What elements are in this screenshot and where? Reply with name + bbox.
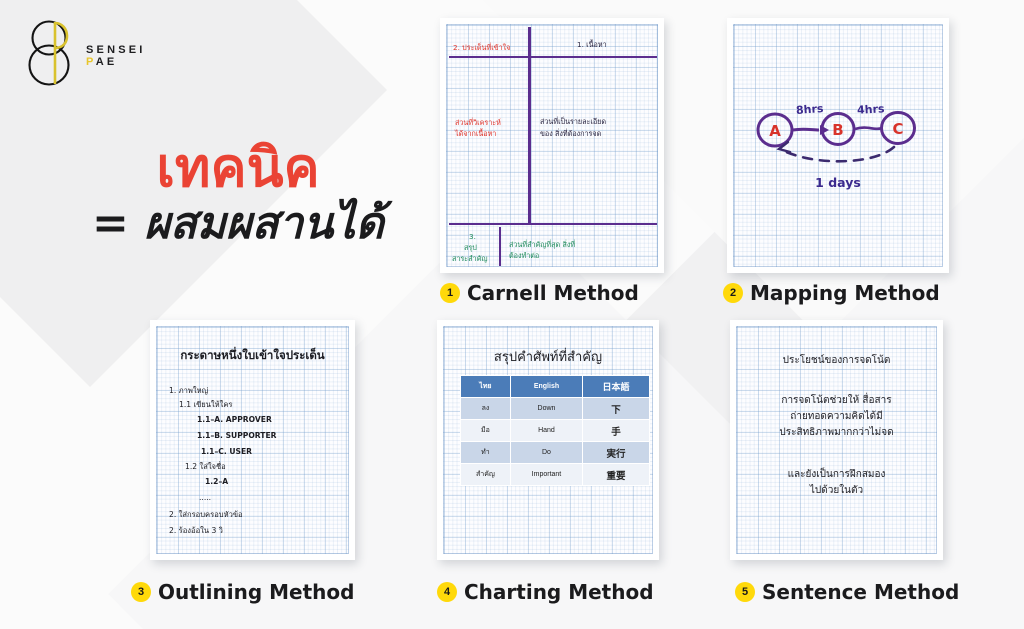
cornell-left-body-line-2: ได้จากเนื้อหา (455, 129, 496, 139)
sentence-para1-line3: ประสิทธิภาพมากกว่าไม่จด (747, 425, 926, 441)
infographic-canvas: SENSEI PAE เทคนิค = ผสมผสานได้ 2. ประเด็… (0, 0, 1024, 629)
graph-paper-5: ประโยชน์ของการจดโน้ต การจดโน้ตช่วยให้ สื… (736, 326, 937, 554)
cornell-rule-vertical (528, 27, 531, 225)
caption-mapping-method: 2 Mapping Method (723, 281, 940, 305)
headline-line-1: เทคนิค (58, 140, 418, 197)
headline-line-2: = ผสมผสานได้ (58, 199, 418, 250)
sensei-pae-logo-icon (24, 18, 86, 86)
graph-paper-4: สรุปคำศัพท์ที่สำคัญ ไทย English 日本語 ลง D… (443, 326, 653, 554)
cell-thai: ลง (461, 398, 511, 420)
caption-label-5: Sentence Method (762, 580, 959, 604)
card-outlining-method[interactable]: กระดาษหนึ่งใบเข้าใจประเด็น 1. ภาพใหญ่ 1.… (150, 320, 355, 560)
cell-japanese: 実行 (583, 442, 650, 464)
table-row: มือ Hand 手 (461, 420, 650, 442)
sentence-para1-line1: การจดโน้ตช่วยให้ สื่อสาร (747, 393, 926, 409)
cornell-rule-bottom (449, 223, 657, 225)
brand-logo: SENSEI PAE (24, 18, 204, 88)
sentence-para2-line1: และยังเป็นการฝึกสมอง (747, 467, 926, 483)
cell-english: Important (510, 464, 582, 486)
graph-paper-2: A B C 8hrs 4hrs 1 days (733, 24, 943, 267)
sentence-para2-line2: ไปด้วยในตัว (747, 483, 926, 499)
cell-english: Down (510, 398, 582, 420)
brand-wordmark: SENSEI PAE (86, 45, 146, 69)
cell-japanese: 重要 (583, 464, 650, 486)
graph-paper-3: กระดาษหนึ่งใบเข้าใจประเด็น 1. ภาพใหญ่ 1.… (156, 326, 349, 554)
cornell-bottom-right-line-1: ส่วนที่สำคัญที่สุด สิ่งที่ (509, 240, 575, 250)
cornell-top-right-label: 1. เนื้อหา (577, 40, 607, 50)
badge-number-3: 3 (131, 582, 151, 602)
column-header-english: English (510, 376, 582, 398)
mapping-diagram: A B C 8hrs 4hrs 1 days (734, 25, 943, 267)
cornell-right-body-line-1: ส่วนที่เป็นรายละเอียด (540, 117, 606, 127)
outline-item-8: 2. ใส่กรอบครอบหัวข้อ (169, 509, 243, 521)
outline-item-3: 1.1–B. SUPPORTER (197, 431, 277, 440)
cornell-right-body-line-2: ของ สิ่งที่ต้องการจด (540, 129, 601, 139)
badge-number-1: 1 (440, 283, 460, 303)
svg-text:C: C (892, 120, 903, 138)
cornell-bottom-left-line-2: สรุป (464, 243, 477, 253)
graph-paper-1: 2. ประเด็นที่เข้าใจ 1. เนื้อหา ส่วนที่วิ… (446, 24, 658, 267)
vocabulary-table: ไทย English 日本語 ลง Down 下 มือ (460, 375, 650, 486)
svg-text:4hrs: 4hrs (857, 102, 886, 116)
caption-label-1: Carnell Method (467, 281, 639, 305)
page-title: เทคนิค = ผสมผสานได้ (58, 140, 418, 249)
caption-label-4: Charting Method (464, 580, 654, 604)
caption-outlining-method: 3 Outlining Method (131, 580, 354, 604)
outline-item-7: ..... (199, 493, 211, 502)
card-charting-method[interactable]: สรุปคำศัพท์ที่สำคัญ ไทย English 日本語 ลง D… (437, 320, 659, 560)
outline-item-0: 1. ภาพใหญ่ (169, 385, 208, 397)
badge-number-2: 2 (723, 283, 743, 303)
cornell-rule-bottom-vertical (499, 227, 501, 266)
cornell-bottom-right-line-2: ต้องทำต่อ (509, 251, 539, 261)
badge-number-5: 5 (735, 582, 755, 602)
brand-line-2: PAE (86, 57, 146, 69)
table-row: ลง Down 下 (461, 398, 650, 420)
caption-charting-method: 4 Charting Method (437, 580, 654, 604)
svg-text:A: A (769, 122, 781, 140)
table-header-row: ไทย English 日本語 (461, 376, 650, 398)
cell-english: Do (510, 442, 582, 464)
svg-text:B: B (832, 121, 843, 139)
caption-sentence-method: 5 Sentence Method (735, 580, 959, 604)
chart-title: สรุปคำศัพท์ที่สำคัญ (444, 346, 652, 367)
sentence-title: ประโยชน์ของการจดโน้ต (747, 353, 926, 369)
column-header-japanese: 日本語 (583, 376, 650, 398)
cornell-left-body-line-1: ส่วนที่วิเคราะห์ (455, 118, 501, 128)
cell-japanese: 下 (583, 398, 650, 420)
cell-thai: ทำ (461, 442, 511, 464)
brand-line-2-p: P (86, 56, 96, 68)
outline-item-6: 1.2–A (205, 477, 228, 486)
caption-label-3: Outlining Method (158, 580, 354, 604)
svg-text:1 days: 1 days (815, 175, 861, 190)
column-header-thai: ไทย (461, 376, 511, 398)
outline-item-2: 1.1–A. APPROVER (197, 415, 272, 424)
outline-title: กระดาษหนึ่งใบเข้าใจประเด็น (157, 347, 348, 365)
card-sentence-method[interactable]: ประโยชน์ของการจดโน้ต การจดโน้ตช่วยให้ สื… (730, 320, 943, 560)
card-carnell-method[interactable]: 2. ประเด็นที่เข้าใจ 1. เนื้อหา ส่วนที่วิ… (440, 18, 664, 273)
card-mapping-method[interactable]: A B C 8hrs 4hrs 1 days (727, 18, 949, 273)
cell-thai: มือ (461, 420, 511, 442)
svg-text:8hrs: 8hrs (796, 102, 825, 117)
sentence-para1-line2: ถ่ายทอดความคิดได้มี (747, 409, 926, 425)
outline-item-1: 1.1 เขียนให้ใคร (179, 399, 233, 411)
cornell-rule-top (449, 56, 657, 58)
caption-label-2: Mapping Method (750, 281, 940, 305)
outline-item-4: 1.1–C. USER (201, 447, 252, 456)
cell-english: Hand (510, 420, 582, 442)
cell-thai: สำคัญ (461, 464, 511, 486)
cell-japanese: 手 (583, 420, 650, 442)
outline-item-9: 2. ร้องอ้อใน 3 วิ (169, 525, 223, 537)
brand-line-2-rest: AE (96, 56, 118, 68)
caption-carnell-method: 1 Carnell Method (440, 281, 639, 305)
cornell-bottom-left-line-1: 3. (469, 232, 476, 242)
badge-number-4: 4 (437, 582, 457, 602)
cornell-top-left-label: 2. ประเด็นที่เข้าใจ (453, 43, 510, 53)
cornell-bottom-left-line-3: สาระสำคัญ (452, 254, 488, 264)
outline-item-5: 1.2 ใส่ใจชื่อ (185, 461, 226, 473)
table-row: สำคัญ Important 重要 (461, 464, 650, 486)
table-row: ทำ Do 実行 (461, 442, 650, 464)
